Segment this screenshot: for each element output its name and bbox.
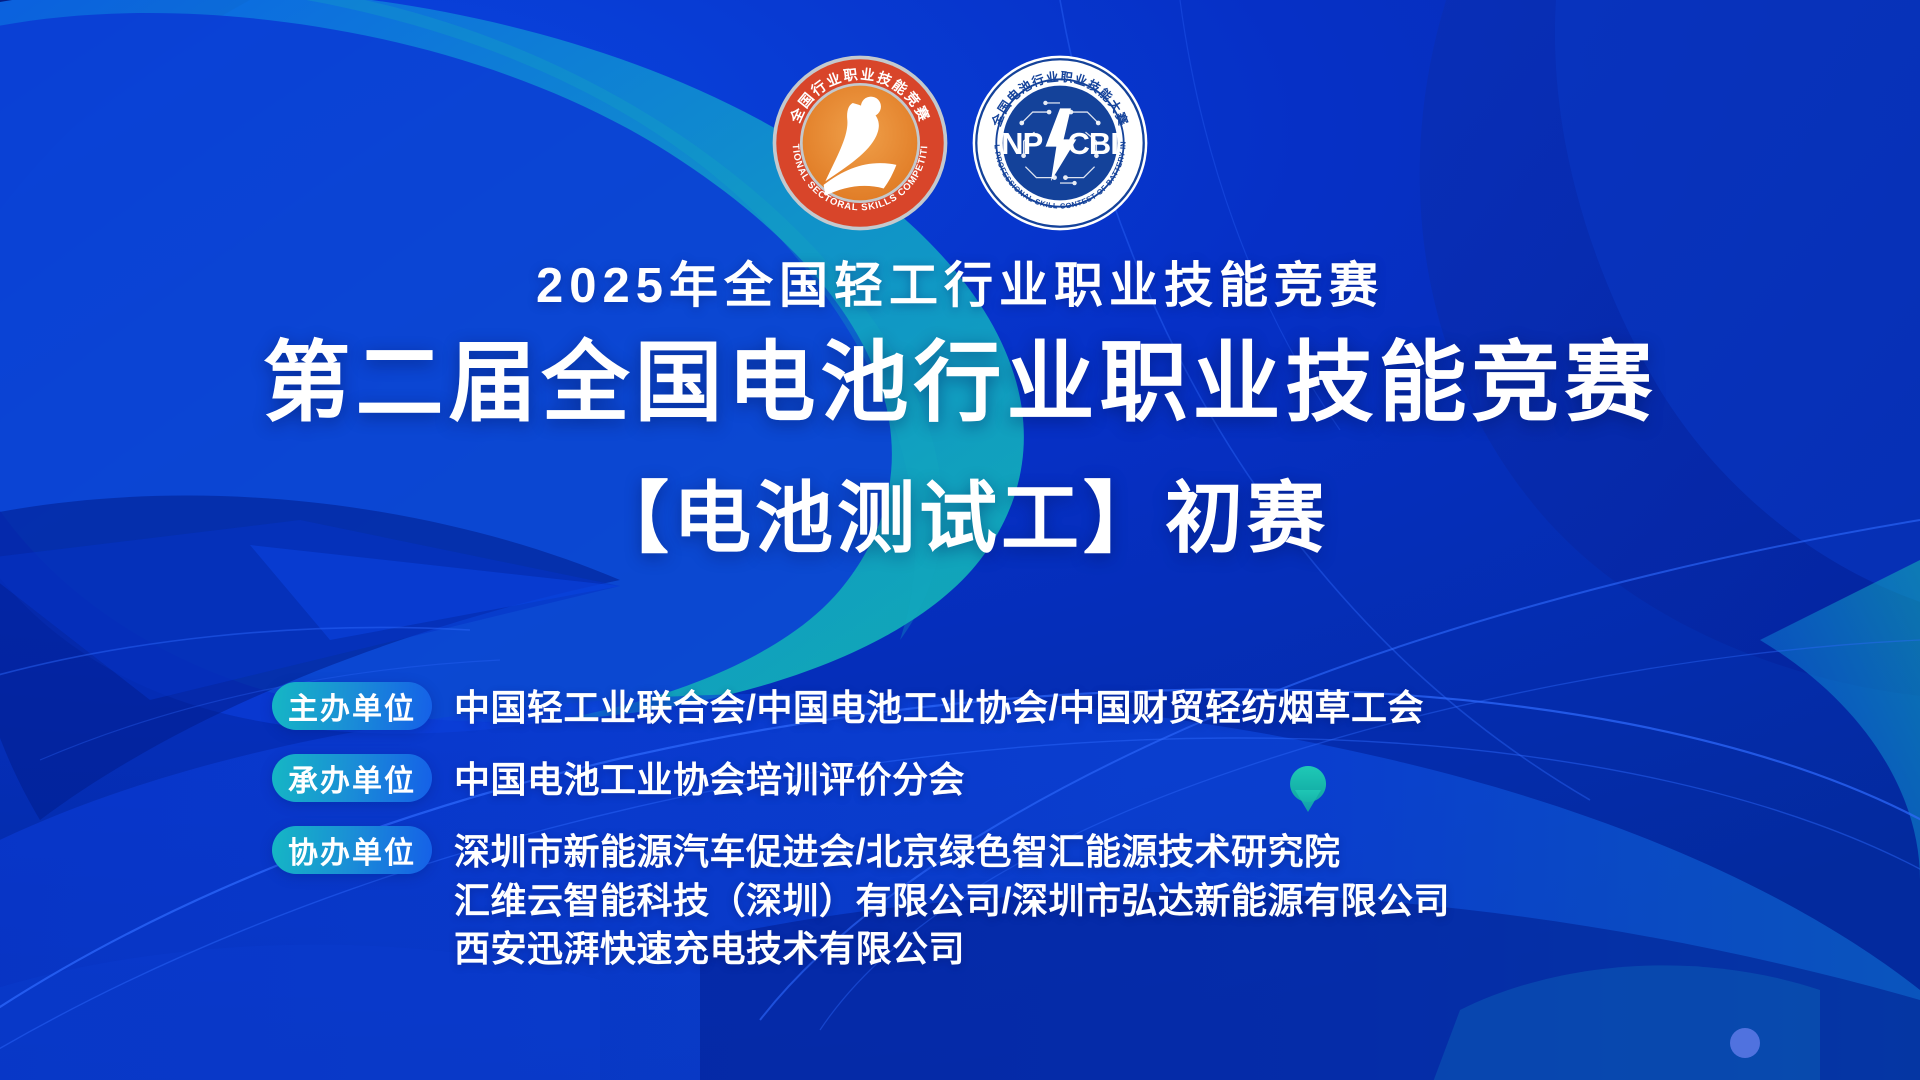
svg-text:NP: NP — [1001, 126, 1042, 161]
organizer-row: 主办单位 中国轻工业联合会/中国电池工业协会/中国财贸轻纺烟草工会 — [272, 682, 1800, 732]
organizer-badge-host: 主办单位 — [272, 682, 432, 730]
organizer-list: 主办单位 中国轻工业联合会/中国电池工业协会/中国财贸轻纺烟草工会 承办单位 中… — [272, 682, 1800, 973]
organizer-badge-coorganizer: 协办单位 — [272, 826, 432, 874]
organizer-badge-organizer: 承办单位 — [272, 754, 432, 802]
poster-subtitle: 2025年全国轻工行业职业技能竞赛 — [60, 258, 1860, 316]
corner-dot-icon — [1730, 1028, 1760, 1058]
organizer-value-coorganizer: 深圳市新能源汽车促进会/北京绿色智汇能源技术研究院 汇维云智能科技（深圳）有限公… — [454, 826, 1450, 973]
poster-main-title: 第二届全国电池行业职业技能竞赛 — [60, 334, 1860, 433]
logo-row: 全国行业职业技能竞赛 NATIONAL SECTORAL SKILLS COMP… — [0, 52, 1920, 234]
organizer-row: 协办单位 深圳市新能源汽车促进会/北京绿色智汇能源技术研究院 汇维云智能科技（深… — [272, 826, 1800, 973]
event-poster: 全国行业职业技能竞赛 NATIONAL SECTORAL SKILLS COMP… — [0, 0, 1920, 1080]
organizer-value-organizer: 中国电池工业协会培训评价分会 — [454, 754, 965, 804]
npcbi-battery-industry-emblem: NP CBI 全国电池行业职业技能大赛 NATIONAL PROFESSIONA… — [969, 52, 1151, 234]
svg-text:CBI: CBI — [1067, 126, 1118, 161]
organizer-value-host: 中国轻工业联合会/中国电池工业协会/中国财贸轻纺烟草工会 — [454, 682, 1424, 732]
poster-event-title: 【电池测试工】初赛 — [60, 474, 1860, 564]
organizer-row: 承办单位 中国电池工业协会培训评价分会 — [272, 754, 1800, 804]
title-block: 2025年全国轻工行业职业技能竞赛 第二届全国电池行业职业技能竞赛 【电池测试工… — [0, 258, 1920, 564]
national-sectoral-skills-competition-emblem: 全国行业职业技能竞赛 NATIONAL SECTORAL SKILLS COMP… — [769, 52, 951, 234]
